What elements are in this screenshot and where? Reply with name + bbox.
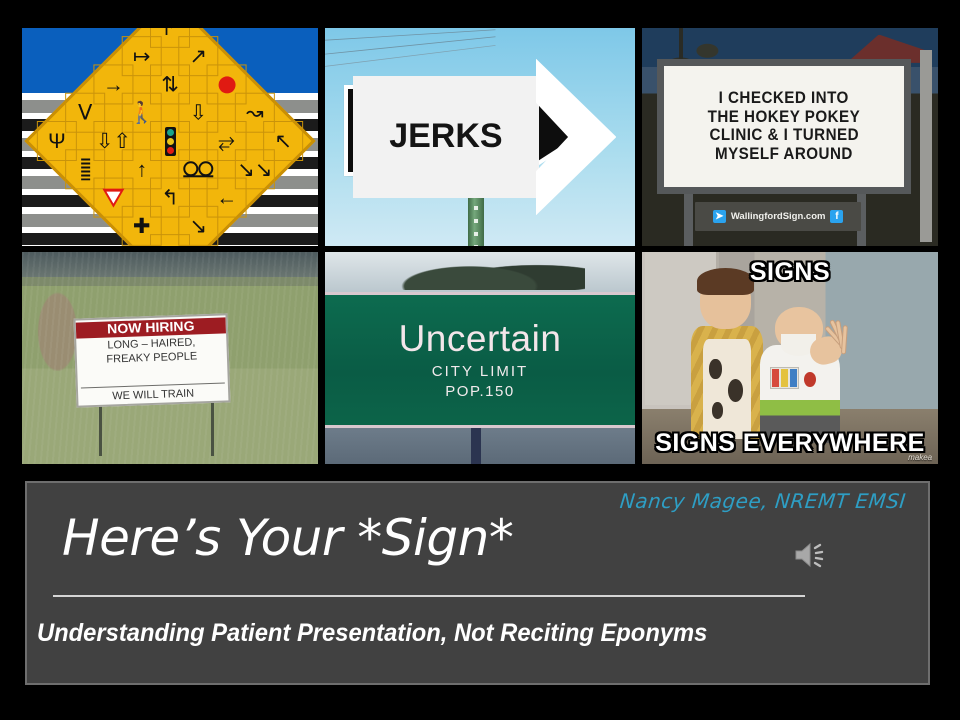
facebook-f-icon: f — [830, 210, 843, 223]
marquee-line: THE HOKEY POKEY — [708, 108, 861, 126]
marquee-line: I CHECKED INTO — [719, 89, 849, 107]
social-banner: ➤ WallingfordSign.com f — [695, 202, 861, 230]
city-limit-label: CITY LIMIT — [432, 363, 528, 380]
marquee-frame: I CHECKED INTO THE HOKEY POKEY CLINIC & … — [657, 59, 912, 194]
city-name: Uncertain — [399, 320, 562, 357]
marquee-line: MYSELF AROUND — [715, 145, 853, 163]
red-signal-dot — [218, 76, 235, 93]
meme-top-text: SIGNS — [642, 258, 938, 287]
author-credit: Nancy Magee, NREMT EMSI — [619, 489, 907, 513]
bicycle-icon — [183, 162, 213, 178]
highway-sign: Uncertain CITY LIMIT POP.150 — [325, 292, 635, 427]
photo-uncertain-city-limit-sign[interactable]: Uncertain CITY LIMIT POP.150 — [325, 252, 635, 464]
page-subtitle: Understanding Patient Presentation, Not … — [37, 619, 707, 648]
photo-jerks-arrow-sign[interactable]: JERKS — [325, 28, 635, 246]
twitter-bird-icon: ➤ — [713, 210, 726, 223]
title-divider — [53, 595, 805, 597]
woody-character — [689, 273, 766, 438]
photo-now-hiring-lawn-sign[interactable]: NOW HIRING LONG – HAIRED, FREAKY PEOPLE … — [22, 252, 318, 464]
presentation-slide: ↱ ↗ ↝ ↖ ↦ ⇅ ⇩ ⥂ ↘↘ → 🚶 ← Ⅴ — [0, 0, 960, 720]
photo-wallingford-marquee-sign[interactable]: I CHECKED INTO THE HOKEY POKEY CLINIC & … — [642, 28, 938, 246]
meme-bottom-text: SIGNS EVERYWHERE — [642, 429, 938, 458]
traffic-light-icon — [165, 127, 176, 156]
photo-collage: ↱ ↗ ↝ ↖ ↦ ⇅ ⇩ ⥂ ↘↘ → 🚶 ← Ⅴ — [22, 28, 938, 464]
railroad-crossing-icon — [81, 159, 90, 181]
speaker-audio-icon[interactable] — [794, 541, 828, 569]
sign-text-plate: JERKS — [353, 76, 539, 198]
buzz-lightyear-character — [760, 307, 840, 443]
population-label: POP.150 — [445, 383, 514, 400]
meme-watermark: makea — [908, 453, 932, 462]
sign-cell: ⊢ — [150, 234, 190, 246]
yield-sign-icon — [102, 188, 124, 207]
page-title: Here’s Your *Sign* — [62, 509, 513, 567]
yard-sign: NOW HIRING LONG – HAIRED, FREAKY PEOPLE … — [74, 313, 231, 407]
sign-post — [471, 422, 481, 464]
photo-traffic-sign-diamond[interactable]: ↱ ↗ ↝ ↖ ↦ ⇅ ⇩ ⥂ ↘↘ → 🚶 ← Ⅴ — [22, 28, 318, 246]
website-url: WallingfordSign.com — [731, 211, 826, 222]
jerks-label: JERKS — [389, 117, 502, 156]
letterboard: I CHECKED INTO THE HOKEY POKEY CLINIC & … — [664, 66, 905, 187]
marquee-line: CLINIC & I TURNED — [709, 126, 859, 144]
tree-canopy — [393, 252, 585, 290]
photo-signs-everywhere-meme[interactable]: SIGNS SIGNS EVERYWHERE makea — [642, 252, 938, 464]
sign-body-text: LONG – HAIRED, FREAKY PEOPLE — [79, 333, 225, 388]
title-panel: Nancy Magee, NREMT EMSI Here’s Your *Sig… — [25, 481, 930, 685]
utility-pole — [920, 50, 932, 242]
